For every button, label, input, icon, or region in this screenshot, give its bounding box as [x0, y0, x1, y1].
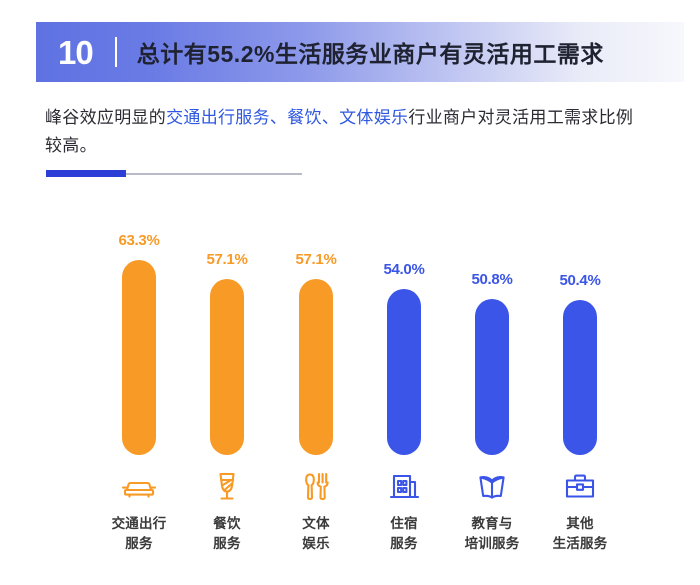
- bar-category-label-line1: 其他: [536, 514, 624, 534]
- briefcase-icon: [536, 464, 624, 508]
- bar-group[interactable]: 50.8%教育与培训服务: [448, 0, 536, 585]
- bar-category-label-line2: 生活服务: [536, 534, 624, 554]
- bar-group[interactable]: 54.0%住宿服务: [360, 0, 448, 585]
- bar-chart: 63.3%交通出行服务57.1%餐饮服务57.1%文体娱乐54.0%住宿服务50…: [0, 0, 700, 585]
- bar-value-label: 57.1%: [183, 251, 271, 268]
- bar-category-label-line2: 服务: [360, 534, 448, 554]
- bar-category-label: 文体娱乐: [272, 514, 360, 554]
- bar-category-label-line1: 住宿: [360, 514, 448, 534]
- building-icon: [360, 464, 448, 508]
- car-icon: [95, 464, 183, 508]
- bar-value-label: 50.4%: [536, 272, 624, 289]
- bar-category-label-line1: 餐饮: [183, 514, 271, 534]
- bar-value-label: 54.0%: [360, 261, 448, 278]
- bar-value-label: 63.3%: [95, 232, 183, 249]
- bar-category-label: 其他生活服务: [536, 514, 624, 554]
- bar-category-label: 教育与培训服务: [448, 514, 536, 554]
- bar-value-label: 50.8%: [448, 271, 536, 288]
- bar-group[interactable]: 57.1%餐饮服务: [183, 0, 271, 585]
- bar-group[interactable]: 63.3%交通出行服务: [95, 0, 183, 585]
- bar-shape[interactable]: [387, 289, 421, 455]
- bar-category-label-line2: 服务: [95, 534, 183, 554]
- bar-category-label-line2: 培训服务: [448, 534, 536, 554]
- bar-shape[interactable]: [122, 260, 156, 455]
- bar-group[interactable]: 57.1%文体娱乐: [272, 0, 360, 585]
- bar-category-label-line1: 交通出行: [95, 514, 183, 534]
- bar-shape[interactable]: [475, 299, 509, 455]
- bar-category-label: 住宿服务: [360, 514, 448, 554]
- bar-category-label-line1: 教育与: [448, 514, 536, 534]
- wine-glass-icon: [183, 464, 271, 508]
- bar-category-label: 交通出行服务: [95, 514, 183, 554]
- bar-value-label: 57.1%: [272, 251, 360, 268]
- spoon-fork-icon: [272, 464, 360, 508]
- bar-category-label-line2: 服务: [183, 534, 271, 554]
- bar-category-label-line2: 娱乐: [272, 534, 360, 554]
- bar-shape[interactable]: [299, 279, 333, 455]
- bar-category-label: 餐饮服务: [183, 514, 271, 554]
- open-book-icon: [448, 464, 536, 508]
- bar-shape[interactable]: [563, 300, 597, 455]
- bar-shape[interactable]: [210, 279, 244, 455]
- bar-category-label-line1: 文体: [272, 514, 360, 534]
- bar-group[interactable]: 50.4%其他生活服务: [536, 0, 624, 585]
